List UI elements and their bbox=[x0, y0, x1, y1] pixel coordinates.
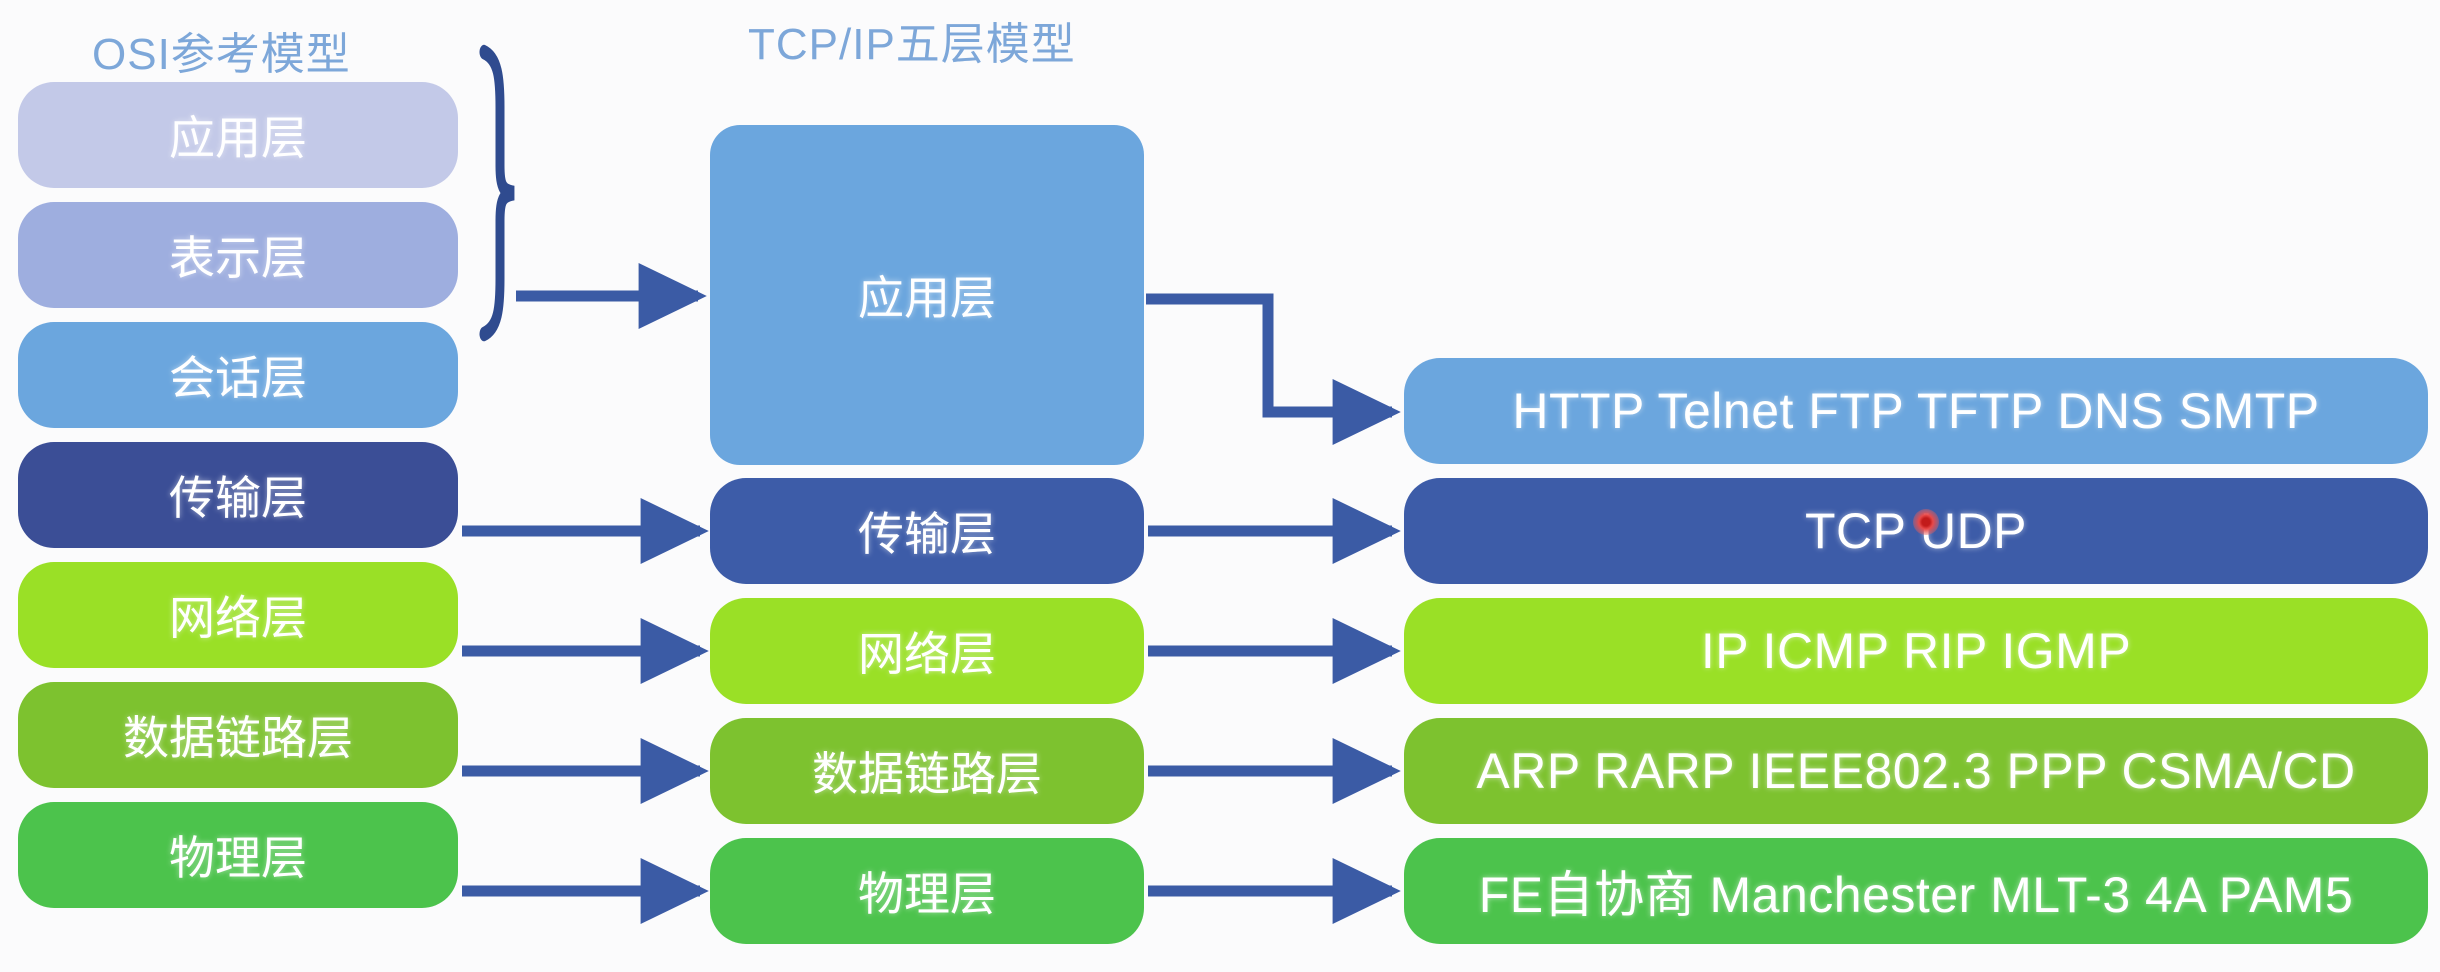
tcpip-layer-physical[interactable]: 物理层 bbox=[710, 838, 1144, 944]
osi-layer-presentation[interactable]: 表示层 bbox=[18, 202, 458, 308]
osi-layer-physical[interactable]: 物理层 bbox=[18, 802, 458, 908]
osi-column-title: OSI参考模型 bbox=[92, 18, 351, 82]
osi-layer-transport[interactable]: 传输层 bbox=[18, 442, 458, 548]
tcpip-layer-application[interactable]: 应用层 bbox=[710, 125, 1144, 465]
arrow-app-to-protocols bbox=[1146, 299, 1392, 412]
tcpip-layer-transport[interactable]: 传输层 bbox=[710, 478, 1144, 584]
osi-layer-session[interactable]: 会话层 bbox=[18, 322, 458, 428]
red-dot-marker bbox=[1913, 509, 1939, 535]
osi-layer-data-link[interactable]: 数据链路层 bbox=[18, 682, 458, 788]
osi-layer-network[interactable]: 网络层 bbox=[18, 562, 458, 668]
tcpip-layer-data-link[interactable]: 数据链路层 bbox=[710, 718, 1144, 824]
osi-group-brace bbox=[484, 52, 514, 334]
tcpip-column-title: TCP/IP五层模型 bbox=[748, 8, 1076, 72]
protocols-network[interactable]: IP ICMP RIP IGMP bbox=[1404, 598, 2428, 704]
protocols-physical[interactable]: FE自协商 Manchester MLT-3 4A PAM5 bbox=[1404, 838, 2428, 944]
diagram-canvas: OSI参考模型 TCP/IP五层模型 应用层 表示层 会话层 传输层 网络层 数… bbox=[0, 0, 2440, 972]
osi-layer-application[interactable]: 应用层 bbox=[18, 82, 458, 188]
tcpip-layer-network[interactable]: 网络层 bbox=[710, 598, 1144, 704]
protocols-application[interactable]: HTTP Telnet FTP TFTP DNS SMTP bbox=[1404, 358, 2428, 464]
protocols-data-link[interactable]: ARP RARP IEEE802.3 PPP CSMA/CD bbox=[1404, 718, 2428, 824]
